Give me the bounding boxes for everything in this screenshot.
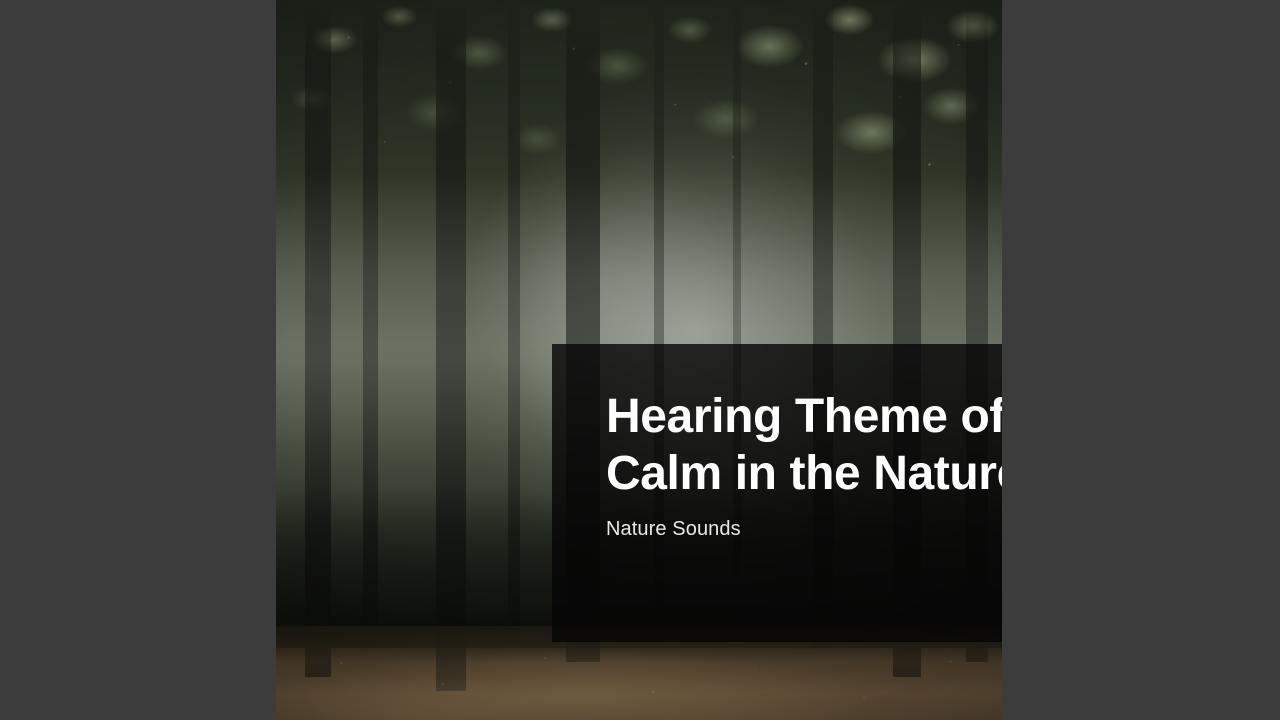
video-artwork[interactable]: Hearing Theme of Calm in the Nature Natu…	[276, 0, 1002, 720]
video-title: Hearing Theme of Calm in the Nature	[606, 388, 1002, 502]
title-card-overlay: Hearing Theme of Calm in the Nature Natu…	[552, 344, 1002, 642]
video-player[interactable]: Hearing Theme of Calm in the Nature Natu…	[0, 0, 1280, 720]
video-artist: Nature Sounds	[606, 516, 1002, 542]
